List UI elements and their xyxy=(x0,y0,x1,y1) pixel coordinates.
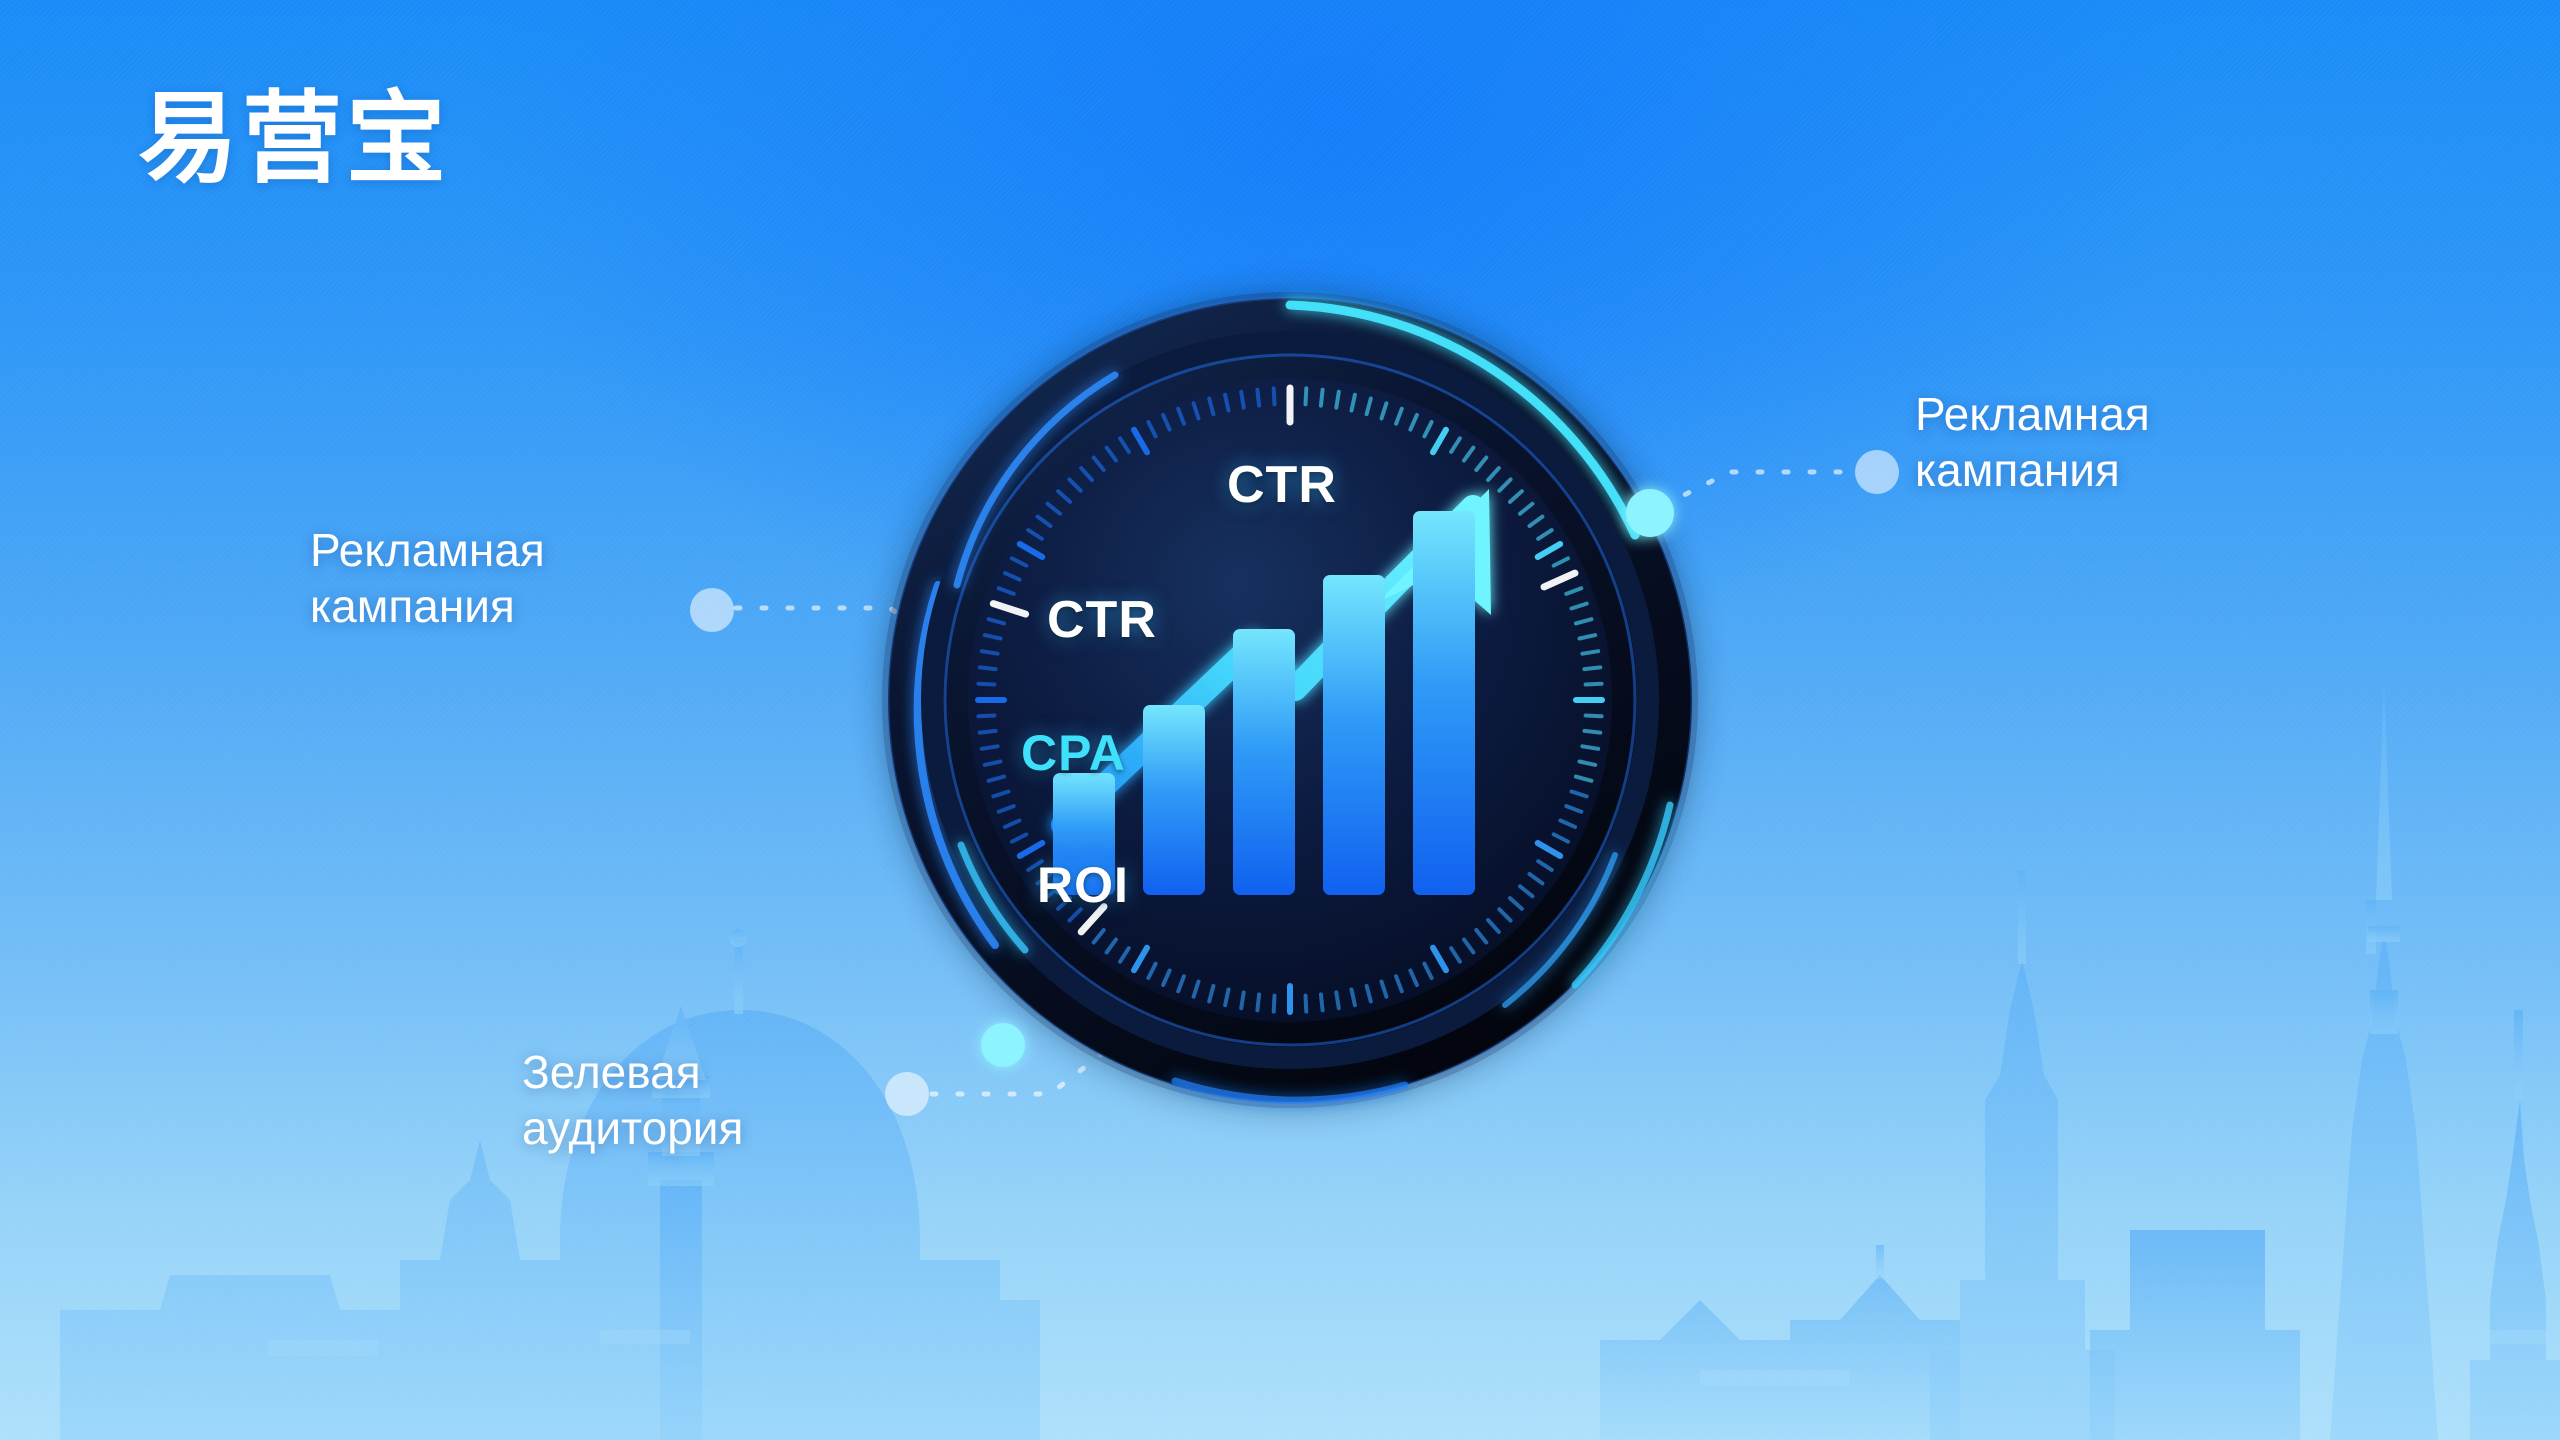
poster-canvas: 易营宝 Рекламная кампания Рекламная кампани… xyxy=(0,0,2560,1440)
bar-2 xyxy=(1143,705,1205,895)
gauge-tick xyxy=(980,731,996,733)
leader-dot-right xyxy=(1855,450,1899,494)
gauge-tick xyxy=(1257,390,1259,406)
skyline-mid-group xyxy=(1600,1245,1960,1440)
gauge-tick xyxy=(1584,731,1600,733)
gauge-tick xyxy=(978,716,994,717)
brand-logo: 易营宝 xyxy=(138,86,450,191)
gauge-tick xyxy=(1336,992,1339,1008)
gauge-tick xyxy=(1241,392,1244,408)
gauge-tick xyxy=(1586,716,1602,717)
gauge-node-right[interactable] xyxy=(1626,489,1674,537)
gauge-tick xyxy=(1306,388,1307,404)
bar-3 xyxy=(1233,629,1295,895)
gauge-svg xyxy=(875,285,1705,1115)
gauge-tick xyxy=(1586,684,1602,685)
metric-label-ctr-top: CTR xyxy=(1227,455,1337,515)
gauge-tick xyxy=(1321,390,1323,406)
gauge-tick xyxy=(1321,994,1323,1010)
callout-bottom-label: Зелевая аудитория xyxy=(522,1044,743,1156)
callout-right-label: Рекламная кампания xyxy=(1915,386,2150,498)
gauge-tick xyxy=(1582,651,1598,654)
gauge-tick xyxy=(980,667,996,669)
bar-5 xyxy=(1413,511,1475,895)
gauge-tick xyxy=(978,684,994,685)
bar-4 xyxy=(1323,575,1385,895)
gauge-tick xyxy=(982,746,998,749)
gauge-tick xyxy=(1306,996,1307,1012)
metric-label-roi: ROI xyxy=(1037,856,1129,914)
skyline-right-group xyxy=(1930,680,2560,1440)
metric-label-cpa: CPA xyxy=(1021,724,1126,782)
gauge-tick xyxy=(1336,392,1339,408)
gauge-tick xyxy=(1241,992,1244,1008)
gauge-tick xyxy=(1274,996,1275,1012)
leader-dot-left xyxy=(690,588,734,632)
gauge-dial: CTR CTR CPA ROI xyxy=(875,285,1705,1115)
gauge-tick xyxy=(1257,994,1259,1010)
gauge-tick xyxy=(1584,667,1600,669)
metric-label-ctr-middle: CTR xyxy=(1047,590,1157,650)
gauge-tick xyxy=(982,651,998,654)
callout-left-label: Рекламная кампания xyxy=(310,522,545,634)
gauge-tick xyxy=(1582,746,1598,749)
gauge-node-bottom[interactable] xyxy=(981,1023,1025,1067)
gauge-tick xyxy=(1274,388,1275,404)
